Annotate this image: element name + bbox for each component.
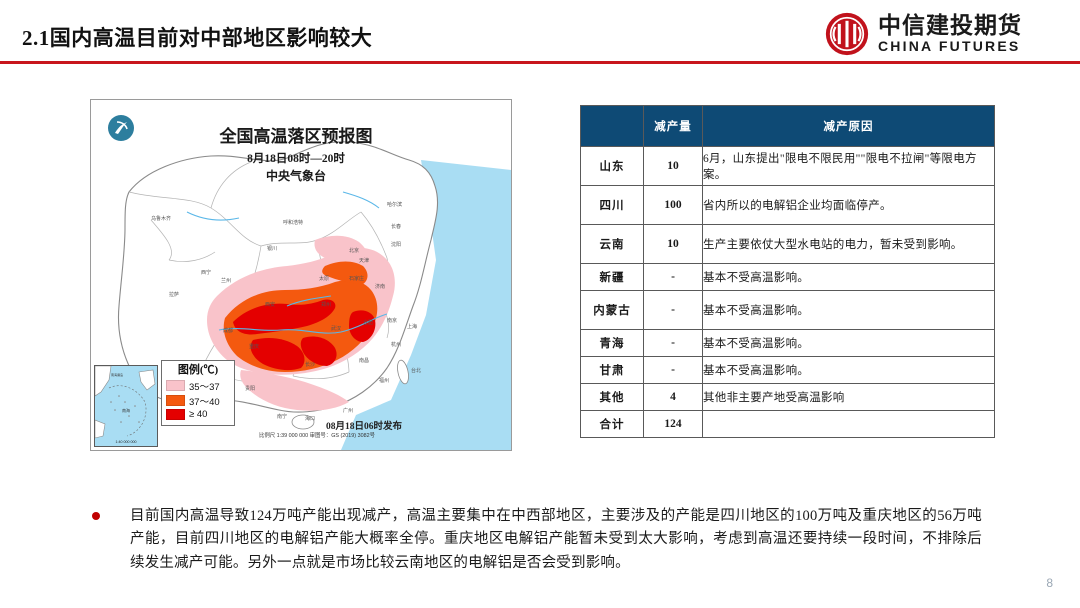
svg-text:南昌: 南昌 bbox=[359, 357, 369, 364]
summary-bullet: 目前国内高温导致124万吨产能出现减产，高温主要集中在中西部地区，主要涉及的产能… bbox=[92, 505, 982, 575]
cell-region: 合计 bbox=[581, 411, 644, 438]
cell-region: 青海 bbox=[581, 330, 644, 357]
svg-text:合肥: 合肥 bbox=[363, 319, 373, 326]
svg-text:哈尔滨: 哈尔滨 bbox=[387, 201, 402, 208]
table-row: 山东 10 6月，山东提出"限电不限民用""限电不拉闸"等限电方案。 bbox=[581, 147, 995, 186]
citic-logo-icon bbox=[825, 12, 869, 56]
svg-text:郑州: 郑州 bbox=[321, 301, 331, 308]
map-subtitle-text: 8月18日08时—20时 bbox=[247, 151, 345, 165]
svg-text:沈阳: 沈阳 bbox=[391, 241, 401, 248]
cell-amount: 10 bbox=[644, 225, 703, 264]
svg-text:南京: 南京 bbox=[387, 317, 397, 324]
table-row: 云南 10 生产主要依仗大型水电站的电力，暂未受到影响。 bbox=[581, 225, 995, 264]
cell-region: 云南 bbox=[581, 225, 644, 264]
svg-text:兰州: 兰州 bbox=[221, 277, 231, 284]
legend-swatch-mid bbox=[166, 395, 185, 406]
map-legend: 图例(℃) 35～37 37～40 ≥ 40 bbox=[161, 360, 235, 426]
inset-caption: 1:40 000 000 bbox=[95, 441, 157, 445]
svg-text:济南: 济南 bbox=[375, 283, 385, 290]
brand-name-en: CHINA FUTURES bbox=[878, 38, 1022, 54]
legend-label-high: ≥ 40 bbox=[189, 409, 207, 420]
svg-text:西安: 西安 bbox=[265, 301, 275, 308]
svg-text:贵阳: 贵阳 bbox=[245, 385, 255, 392]
cell-reason: 生产主要依仗大型水电站的电力，暂未受到影响。 bbox=[703, 225, 995, 264]
cell-amount: - bbox=[644, 357, 703, 384]
svg-text:福州: 福州 bbox=[379, 377, 389, 384]
legend-swatch-high bbox=[166, 409, 185, 420]
cell-region: 山东 bbox=[581, 147, 644, 186]
brand-name-cn: 中信建投期货 bbox=[878, 14, 1022, 38]
svg-text:武汉: 武汉 bbox=[331, 325, 341, 332]
slide-root: 2.1国内高温目前对中部地区影响较大 中信建投期货 CHINA FUTURES bbox=[0, 0, 1080, 608]
legend-item: 35～37 bbox=[166, 379, 230, 393]
svg-text:呼和浩特: 呼和浩特 bbox=[283, 219, 303, 226]
cell-amount: - bbox=[644, 264, 703, 291]
page-number: 8 bbox=[1046, 576, 1053, 590]
header-divider bbox=[0, 61, 1080, 64]
table-row: 甘肃 - 基本不受高温影响。 bbox=[581, 357, 995, 384]
page-title: 2.1国内高温目前对中部地区影响较大 bbox=[22, 22, 372, 52]
svg-text:拉萨: 拉萨 bbox=[169, 291, 179, 298]
production-cut-table: 减产量 减产原因 山东 10 6月，山东提出"限电不限民用""限电不拉闸"等限电… bbox=[580, 105, 995, 438]
legend-label-low: 35～37 bbox=[189, 379, 220, 393]
svg-text:南海诸岛: 南海诸岛 bbox=[111, 372, 123, 377]
table-row-total: 合计 124 bbox=[581, 411, 995, 438]
svg-text:南海: 南海 bbox=[122, 407, 130, 413]
svg-text:天津: 天津 bbox=[359, 257, 369, 264]
weather-map-figure: 全国高温落区预报图 8月18日08时—20时 中央气象台 乌鲁木齐 拉萨 西宁 … bbox=[90, 99, 512, 451]
svg-text:上海: 上海 bbox=[407, 323, 417, 330]
table-row: 四川 100 省内所以的电解铝企业均面临停产。 bbox=[581, 186, 995, 225]
svg-text:台北: 台北 bbox=[411, 367, 421, 374]
table-row: 新疆 - 基本不受高温影响。 bbox=[581, 264, 995, 291]
svg-text:重庆: 重庆 bbox=[249, 343, 259, 350]
cell-amount: 4 bbox=[644, 384, 703, 411]
svg-text:广州: 广州 bbox=[343, 407, 353, 414]
cell-amount: - bbox=[644, 291, 703, 330]
cell-amount: - bbox=[644, 330, 703, 357]
south-china-sea-inset: 南海 南海诸岛 1:40 000 000 bbox=[94, 365, 158, 447]
cell-amount: 10 bbox=[644, 147, 703, 186]
cell-region: 甘肃 bbox=[581, 357, 644, 384]
table-header-row: 减产量 减产原因 bbox=[581, 106, 995, 147]
map-issue-stamp: 08月18日06时发布 bbox=[326, 418, 402, 432]
legend-swatch-low bbox=[166, 380, 185, 391]
svg-text:长沙: 长沙 bbox=[305, 361, 315, 368]
cell-region: 其他 bbox=[581, 384, 644, 411]
cell-reason: 基本不受高温影响。 bbox=[703, 330, 995, 357]
col-header-reason: 减产原因 bbox=[703, 106, 995, 147]
bullet-dot-icon bbox=[92, 512, 100, 520]
cell-reason: 基本不受高温影响。 bbox=[703, 291, 995, 330]
cma-logo-icon bbox=[108, 115, 134, 141]
legend-item: ≥ 40 bbox=[166, 409, 230, 420]
cell-region: 四川 bbox=[581, 186, 644, 225]
cell-reason: 基本不受高温影响。 bbox=[703, 264, 995, 291]
table-row: 青海 - 基本不受高温影响。 bbox=[581, 330, 995, 357]
svg-text:石家庄: 石家庄 bbox=[349, 275, 364, 282]
summary-text: 目前国内高温导致124万吨产能出现减产，高温主要集中在中西部地区，主要涉及的产能… bbox=[130, 505, 982, 575]
legend-item: 37～40 bbox=[166, 394, 230, 408]
svg-text:海口: 海口 bbox=[305, 415, 315, 422]
cell-reason: 6月，山东提出"限电不限民用""限电不拉闸"等限电方案。 bbox=[703, 147, 995, 186]
col-header-amount: 减产量 bbox=[644, 106, 703, 147]
map-issuer-text: 中央气象台 bbox=[266, 168, 326, 183]
cell-reason: 省内所以的电解铝企业均面临停产。 bbox=[703, 186, 995, 225]
svg-text:西宁: 西宁 bbox=[201, 269, 211, 276]
svg-text:长春: 长春 bbox=[391, 223, 401, 230]
legend-title: 图例(℃) bbox=[166, 364, 230, 377]
cell-reason: 基本不受高温影响。 bbox=[703, 357, 995, 384]
svg-text:成都: 成都 bbox=[223, 327, 233, 334]
cell-amount: 100 bbox=[644, 186, 703, 225]
brand-text: 中信建投期货 CHINA FUTURES bbox=[878, 14, 1022, 54]
cell-region: 内蒙古 bbox=[581, 291, 644, 330]
col-header-region bbox=[581, 106, 644, 147]
table-row: 其他 4 其他非主要产地受高温影响 bbox=[581, 384, 995, 411]
cell-reason: 其他非主要产地受高温影响 bbox=[703, 384, 995, 411]
svg-text:北京: 北京 bbox=[349, 247, 359, 254]
map-title-text: 全国高温落区预报图 bbox=[219, 126, 373, 146]
legend-label-mid: 37～40 bbox=[189, 394, 220, 408]
table-row: 内蒙古 - 基本不受高温影响。 bbox=[581, 291, 995, 330]
svg-text:南宁: 南宁 bbox=[277, 413, 287, 420]
cell-region: 新疆 bbox=[581, 264, 644, 291]
cell-reason bbox=[703, 411, 995, 438]
svg-text:太原: 太原 bbox=[319, 275, 329, 282]
svg-text:乌鲁木齐: 乌鲁木齐 bbox=[151, 215, 171, 222]
svg-text:银川: 银川 bbox=[267, 245, 277, 252]
brand-logo: 中信建投期货 CHINA FUTURES bbox=[825, 12, 1022, 56]
svg-text:杭州: 杭州 bbox=[391, 341, 401, 348]
cell-amount: 124 bbox=[644, 411, 703, 438]
map-scale-note: 比例尺 1:39 000 000 审图号：GS (2019) 3082号 bbox=[259, 431, 375, 439]
